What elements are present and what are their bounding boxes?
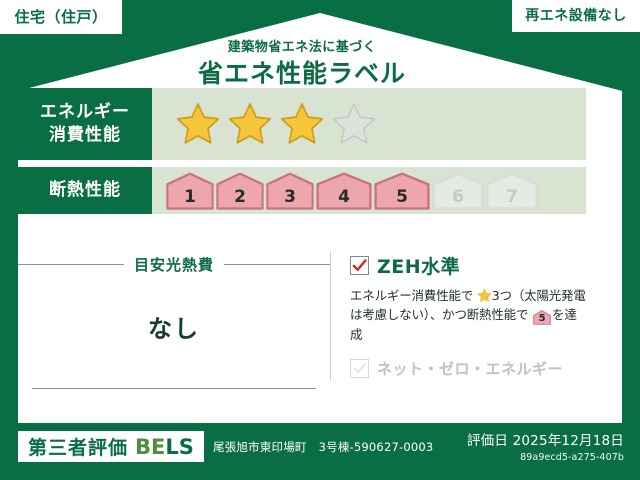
insulation-grade-4: 4: [316, 172, 372, 210]
inline-grade-badge: 5: [533, 310, 551, 325]
evaluation-date-value: 2025年12月18日: [513, 433, 624, 449]
card-main-title: 省エネ性能ラベル: [0, 58, 604, 89]
building-type-tag-label: 住宅（住戸）: [14, 10, 107, 25]
property-address-text: 尾張旭市東印場町: [213, 440, 307, 454]
net-zero-energy-label: ネット・ゼロ・エネルギー: [377, 358, 563, 379]
star-icon-filled: [226, 101, 274, 147]
energy-performance-label: エネルギー 消費性能: [18, 88, 152, 160]
insulation-grade-scale: 1234567: [152, 167, 586, 214]
renewable-equipment-tag: 再エネ設備なし: [512, 0, 640, 32]
details-section: 目安光熱費 なし ZEH水準 エネルギー消費性能で 3つ（太陽光発電 は考慮しな…: [18, 248, 586, 396]
insulation-grade-value: 5: [396, 189, 408, 206]
energy-performance-label-line2: 消費性能: [49, 124, 121, 147]
utility-cost-value: なし: [18, 309, 330, 344]
bels-jp-label: 第三者評価: [28, 433, 128, 460]
insulation-grade-value: 3: [284, 189, 296, 206]
insulation-performance-row: 断熱性能 1234567: [18, 167, 586, 214]
check-icon-disabled: [353, 361, 367, 375]
check-icon: [352, 258, 367, 273]
bels-en-part2: LS: [165, 435, 194, 459]
energy-star-rating: [152, 88, 586, 160]
inline-grade-value: 5: [539, 313, 546, 324]
star-icon-filled: [278, 101, 326, 147]
zeh-checkbox[interactable]: [350, 256, 369, 275]
zeh-heading: ZEH水準: [350, 252, 586, 279]
bels-en-part1: BE: [135, 435, 165, 459]
renewable-equipment-tag-label: 再エネ設備なし: [525, 9, 627, 23]
card-title: 建築物省エネ法に基づく 省エネ性能ラベル: [0, 40, 604, 89]
insulation-grade-value: 4: [338, 189, 350, 206]
property-building-number: 3号棟-590627-0003: [319, 440, 434, 454]
energy-performance-row: エネルギー 消費性能: [18, 88, 586, 160]
utility-cost-heading-text: 目安光熱費: [134, 254, 214, 275]
insulation-grade-5: 5: [374, 172, 430, 210]
insulation-grade-value: 1: [184, 189, 196, 206]
footer: 第三者評価 BELS 尾張旭市東印場町3号棟-590627-0003 評価日 2…: [0, 423, 640, 480]
bels-logo: 第三者評価 BELS: [18, 431, 204, 462]
evaluation-date-label: 評価日: [467, 433, 508, 449]
certificate-uid: 89a9ecd5-a275-407b: [467, 452, 624, 463]
net-zero-energy-checkbox[interactable]: [350, 359, 369, 378]
insulation-grade-1: 1: [166, 172, 214, 210]
net-zero-energy-row: ネット・ゼロ・エネルギー: [350, 358, 586, 379]
insulation-grade-value: 2: [234, 189, 246, 206]
heading-rule-left: [18, 264, 124, 265]
zeh-description-stars: 3つ（太陽光発電: [492, 288, 586, 303]
heading-rule-right: [224, 264, 330, 265]
utility-cost-underline: [32, 388, 316, 389]
insulation-performance-label-text: 断熱性能: [49, 179, 121, 202]
card-subtitle: 建築物省エネ法に基づく: [0, 40, 604, 56]
evaluation-date-block: 評価日 2025年12月18日 89a9ecd5-a275-407b: [467, 429, 624, 463]
utility-cost-heading: 目安光熱費: [18, 254, 330, 275]
zeh-description: エネルギー消費性能で 3つ（太陽光発電 は考慮しない）、かつ断熱性能で 5 を達…: [350, 286, 586, 345]
insulation-grade-7: 7: [486, 172, 538, 210]
star-icon-empty: [330, 101, 378, 147]
zeh-description-part1: エネルギー消費性能で: [350, 288, 473, 303]
utility-cost-panel: 目安光熱費 なし: [18, 248, 330, 396]
evaluation-date: 評価日 2025年12月18日: [467, 429, 624, 449]
insulation-performance-label: 断熱性能: [18, 167, 152, 214]
energy-performance-label-line1: エネルギー: [40, 101, 130, 124]
performance-block: エネルギー 消費性能 断熱性能 1234567: [18, 88, 586, 221]
bels-en-label: BELS: [135, 435, 194, 459]
zeh-title: ZEH水準: [377, 252, 460, 279]
insulation-grade-value: 7: [506, 189, 518, 206]
insulation-grade-2: 2: [216, 172, 264, 210]
insulation-grade-6: 6: [432, 172, 484, 210]
property-address: 尾張旭市東印場町3号棟-590627-0003: [213, 439, 433, 455]
insulation-grade-value: 6: [452, 189, 464, 206]
insulation-grade-3: 3: [266, 172, 314, 210]
star-icon: [477, 288, 492, 303]
zeh-panel: ZEH水準 エネルギー消費性能で 3つ（太陽光発電 は考慮しない）、かつ断熱性能…: [330, 248, 586, 396]
building-type-tag: 住宅（住戸）: [0, 0, 122, 34]
star-icon-filled: [174, 101, 222, 147]
zeh-description-part2: は考慮しない）、かつ断熱性能で: [350, 307, 528, 322]
